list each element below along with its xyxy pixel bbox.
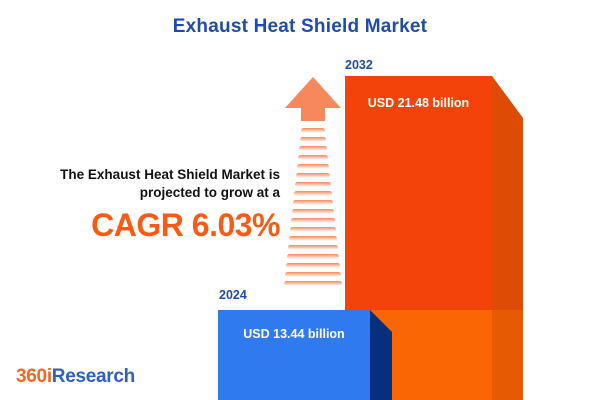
bar-2024-side-face [370,310,392,400]
page-title: Exhaust Heat Shield Market [0,16,600,38]
statement-line-2: projected to grow at a [140,185,280,200]
logo-part-360: 360 [16,366,47,387]
statement-line-1: The Exhaust Heat Shield Market is [60,167,280,182]
bar-2032-value-label: USD 21.48 billion [345,96,492,110]
bar-2024 [218,310,392,400]
bar-2032-side-face-lower [492,310,523,400]
cagr-value: CAGR 6.03% [22,209,280,243]
bar-2024-value-label: USD 13.44 billion [218,327,370,341]
bar-2024-front-face [218,310,370,400]
statement-block: The Exhaust Heat Shield Market is projec… [22,166,280,243]
logo-part-research: Research [52,366,135,387]
statement-text: The Exhaust Heat Shield Market is projec… [22,166,280,202]
bar-2024-year-label: 2024 [219,288,247,302]
growth-arrow-icon [283,76,343,291]
bar-2032-year-label: 2032 [345,58,373,72]
market-infographic: Exhaust Heat Shield Market The Exhaust H… [0,0,600,400]
bar-2032-front-face-upper [345,76,492,310]
brand-logo: 360iResearch [16,366,135,388]
